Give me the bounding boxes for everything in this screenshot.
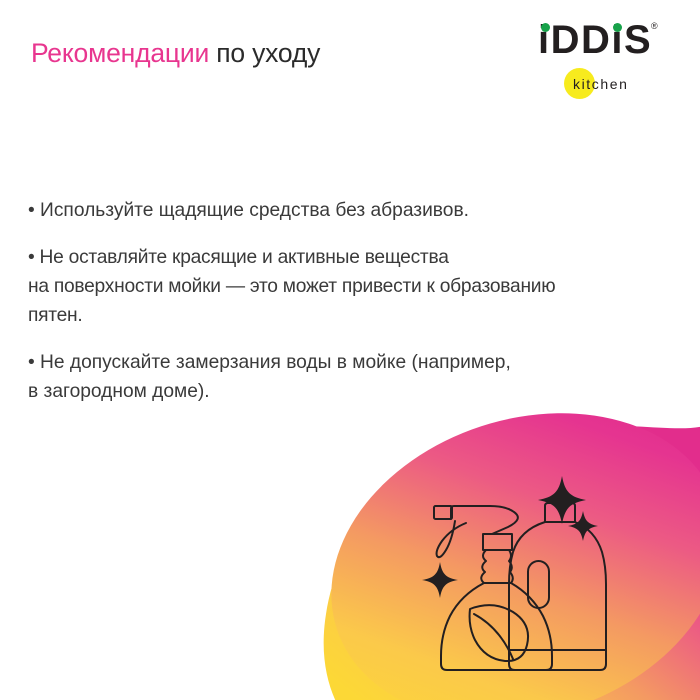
logo-wordmark: iDDiS bbox=[538, 20, 652, 60]
list-item: • Используйте щадящие средства без абраз… bbox=[28, 196, 676, 225]
detergent-bottle-icon bbox=[509, 503, 606, 670]
gradient-blob bbox=[291, 364, 700, 700]
care-recommendations-list: • Используйте щадящие средства без абраз… bbox=[28, 196, 676, 406]
logo-subbrand-label: kitchen bbox=[573, 76, 629, 92]
registered-trademark-icon: ® bbox=[651, 22, 658, 31]
logo-dot-i1-icon bbox=[541, 23, 550, 32]
list-item: • Не оставляйте красящие и активные веще… bbox=[28, 243, 676, 330]
slide-header: Рекомендации по уходу iDDiS ® kitchen bbox=[0, 0, 700, 120]
brand-logo: iDDiS ® kitchen bbox=[538, 20, 688, 100]
page-title-accent: Рекомендации bbox=[31, 38, 209, 68]
sparkles-group bbox=[422, 476, 598, 598]
sparkle-left-icon bbox=[422, 562, 458, 598]
page-title: Рекомендации по уходу bbox=[31, 40, 320, 67]
sparkle-small-icon bbox=[568, 511, 598, 541]
logo-dot-i2-icon bbox=[613, 23, 622, 32]
page-title-rest: по уходу bbox=[209, 38, 320, 68]
slide-root: Рекомендации по уходу iDDiS ® kitchen • … bbox=[0, 0, 700, 700]
spray-bottle-icon bbox=[434, 506, 552, 670]
sparkle-large-icon bbox=[538, 476, 586, 524]
bottles-line-art bbox=[422, 476, 606, 670]
list-item: • Не допускайте замерзания воды в мойке … bbox=[28, 348, 676, 406]
